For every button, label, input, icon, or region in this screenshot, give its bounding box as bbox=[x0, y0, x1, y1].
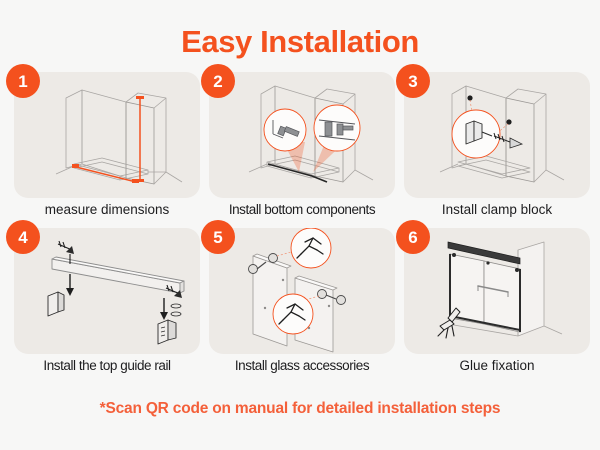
step-2-number-badge: 2 bbox=[201, 64, 235, 98]
step-3-caption: Install clamp block bbox=[404, 202, 590, 218]
step-card-4[interactable]: 4 Install the top guide rail bbox=[14, 228, 200, 380]
step-2-caption: Install bottom components bbox=[209, 202, 395, 218]
step-5-number-badge: 5 bbox=[201, 220, 235, 254]
step-6-number-badge: 6 bbox=[396, 220, 430, 254]
step-4-number-badge: 4 bbox=[6, 220, 40, 254]
glue-fixation-icon bbox=[404, 228, 590, 354]
clamp-block-icon bbox=[404, 72, 590, 198]
bottom-components-icon bbox=[209, 72, 395, 198]
step-3-number-badge: 3 bbox=[396, 64, 430, 98]
step-card-5[interactable]: 5 Install glass accessories bbox=[209, 228, 395, 380]
step-3-illustration-area bbox=[404, 72, 590, 198]
step-4-caption: Install the top guide rail bbox=[14, 358, 200, 374]
step-6-illustration-area bbox=[404, 228, 590, 354]
alcove-measure-icon bbox=[14, 72, 200, 198]
installation-guide-page: Easy Installation bbox=[0, 0, 600, 450]
step-5-illustration-area bbox=[209, 228, 395, 354]
step-card-3[interactable]: 3 Install clamp block bbox=[404, 72, 590, 224]
steps-grid: 1 measure dimensions bbox=[14, 72, 586, 380]
glass-accessories-icon bbox=[209, 228, 395, 354]
top-guide-rail-icon bbox=[14, 228, 200, 354]
step-4-illustration-area bbox=[14, 228, 200, 354]
step-card-6[interactable]: 6 Glue fixation bbox=[404, 228, 590, 380]
step-1-number-badge: 1 bbox=[6, 64, 40, 98]
step-1-caption: measure dimensions bbox=[14, 202, 200, 218]
step-6-caption: Glue fixation bbox=[404, 358, 590, 374]
step-2-illustration-area bbox=[209, 72, 395, 198]
footer-note: *Scan QR code on manual for detailed ins… bbox=[0, 400, 600, 418]
page-title: Easy Installation bbox=[0, 26, 600, 57]
step-card-2[interactable]: 2 Install bottom components bbox=[209, 72, 395, 224]
step-1-illustration-area bbox=[14, 72, 200, 198]
step-5-caption: Install glass accessories bbox=[209, 358, 395, 374]
step-card-1[interactable]: 1 measure dimensions bbox=[14, 72, 200, 224]
